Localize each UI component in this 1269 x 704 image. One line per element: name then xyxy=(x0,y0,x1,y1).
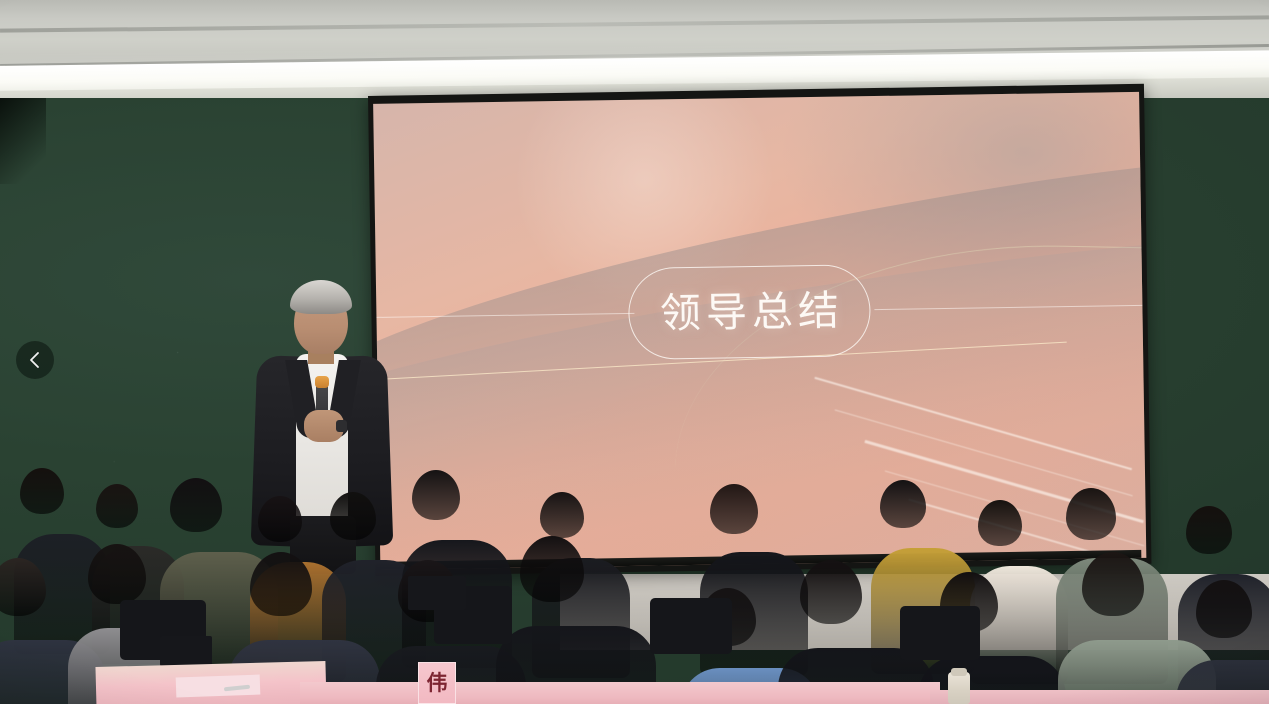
carousel-prev-button[interactable] xyxy=(16,341,54,379)
person-back-11-head xyxy=(1066,488,1116,540)
chair-back-3 xyxy=(650,598,732,654)
person-front-10-head xyxy=(1196,580,1252,638)
speaker-hair xyxy=(290,280,352,314)
speaker-watch xyxy=(336,420,347,432)
person-back-9-head xyxy=(880,480,926,528)
person-back-2-head xyxy=(96,484,138,528)
person-back-1-head xyxy=(20,468,64,514)
person-back-3-head xyxy=(170,478,222,532)
name-placard: 伟 xyxy=(418,662,456,704)
chair-back-4 xyxy=(900,606,980,660)
presentation-photo: 领导总结 伟 xyxy=(0,0,1269,704)
laptop-1 xyxy=(408,576,466,610)
person-back-6-head xyxy=(412,470,460,520)
placard-name-text: 伟 xyxy=(427,673,448,694)
person-back-4-head xyxy=(258,496,302,542)
person-back-7-head xyxy=(540,492,584,538)
chevron-left-icon xyxy=(28,351,42,369)
person-back-8-head xyxy=(710,484,758,534)
person-back-10-head xyxy=(978,500,1022,546)
water-bottle-cap xyxy=(951,668,967,676)
wall-corner-shadow xyxy=(0,98,46,184)
slide-title: 领导总结 xyxy=(655,290,845,334)
table-front xyxy=(300,682,940,704)
person-front-2-head xyxy=(88,544,146,604)
person-back-5-head xyxy=(330,492,376,540)
person-front-7-head xyxy=(800,560,862,624)
water-bottle xyxy=(948,672,970,704)
person-front-5-head xyxy=(520,536,584,602)
slide-title-pill: 领导总结 xyxy=(628,264,871,360)
person-back-12-head xyxy=(1186,506,1232,554)
laptop-2 xyxy=(160,636,212,666)
microphone-head xyxy=(315,376,329,388)
table-right xyxy=(930,690,1269,704)
